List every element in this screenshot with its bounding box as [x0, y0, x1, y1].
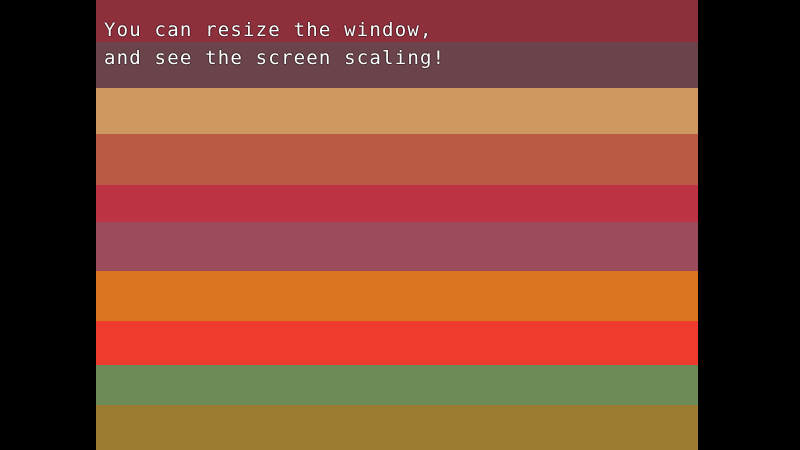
- game-render-surface[interactable]: [96, 0, 698, 450]
- band-dark-gold: [96, 405, 698, 450]
- letterbox-bar-right: [698, 0, 800, 450]
- band-dusty-rose: [96, 222, 698, 271]
- band-terracotta: [96, 134, 698, 185]
- band-bright-red: [96, 321, 698, 365]
- band-orange: [96, 271, 698, 321]
- band-brick-red: [96, 0, 698, 42]
- band-tan: [96, 88, 698, 134]
- game-window[interactable]: You can resize the window, and see the s…: [0, 0, 800, 450]
- band-crimson: [96, 185, 698, 222]
- letterbox-bar-left: [0, 0, 96, 450]
- band-mauve: [96, 42, 698, 88]
- band-olive-green: [96, 365, 698, 405]
